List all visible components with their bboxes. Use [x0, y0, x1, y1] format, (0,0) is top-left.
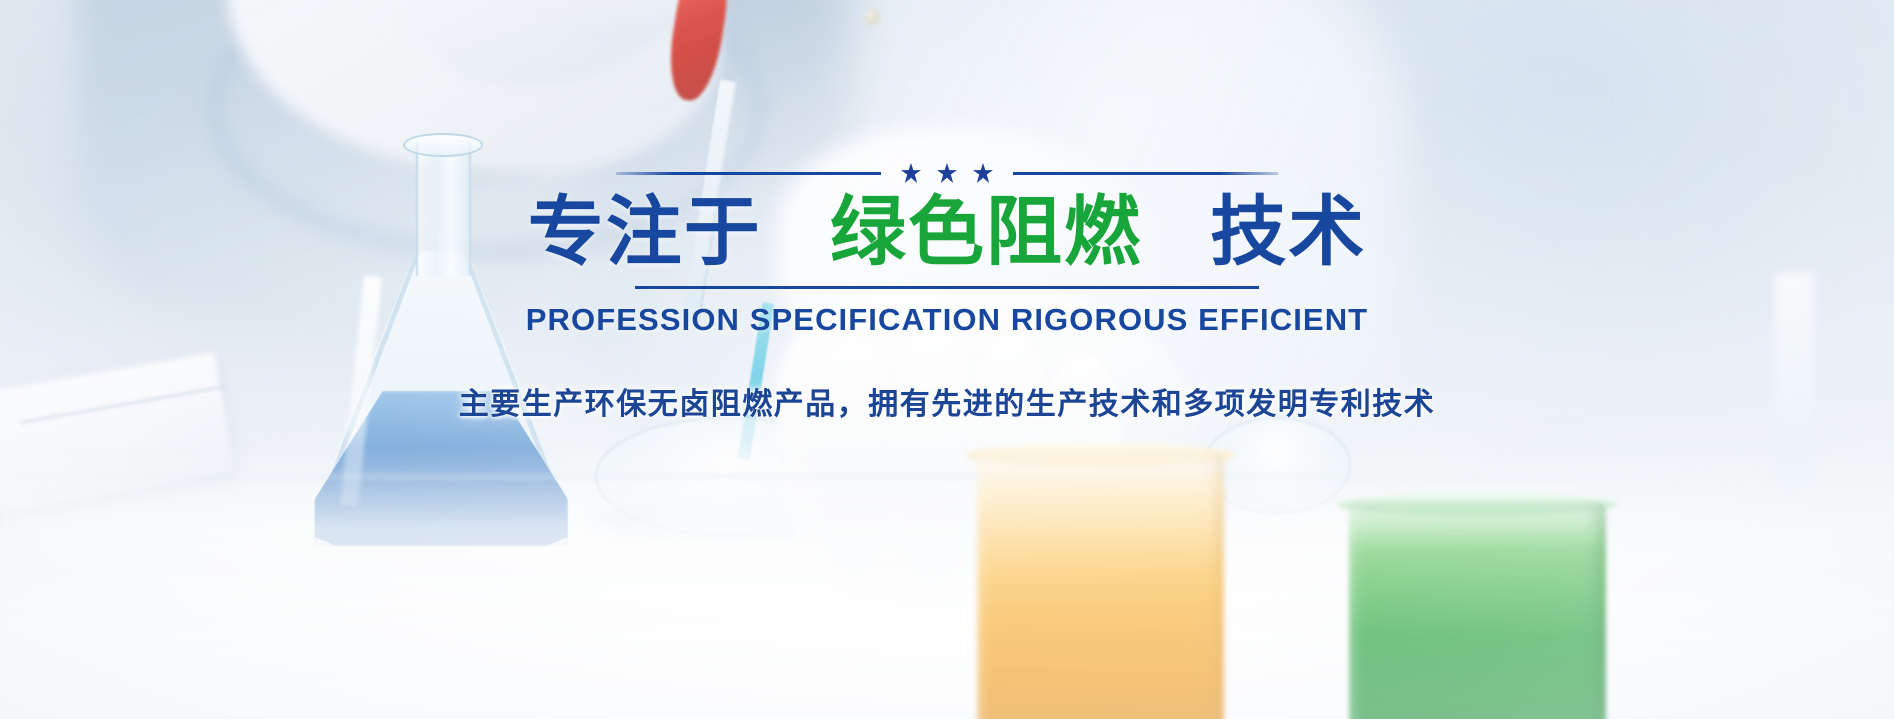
banner-content: 专注于 绿色阻燃 技术 PROFESSION SPECIFICATION RIG… — [0, 160, 1894, 423]
star-icon — [937, 163, 957, 183]
page-title: 专注于 绿色阻燃 技术 — [0, 192, 1894, 274]
headline-part-1: 专注于 — [528, 190, 762, 275]
green-beaker — [1349, 503, 1607, 719]
stars-group — [895, 163, 999, 183]
headline-underline — [635, 286, 1259, 289]
star-icon — [973, 163, 993, 183]
horizontal-rule-right-icon — [1013, 172, 1278, 175]
headline-part-2: 绿色阻燃 — [830, 190, 1142, 275]
headline-part-3: 技术 — [1210, 190, 1366, 275]
star-icon — [901, 163, 921, 183]
flask-lip — [403, 133, 483, 157]
decorative-divider — [0, 160, 1894, 186]
orange-beaker — [977, 453, 1223, 719]
subtitle-english: PROFESSION SPECIFICATION RIGOROUS EFFICI… — [0, 302, 1894, 338]
horizontal-rule-left-icon — [616, 172, 881, 175]
hero-banner: 专注于 绿色阻燃 技术 PROFESSION SPECIFICATION RIG… — [0, 0, 1894, 719]
tagline-chinese: 主要生产环保无卤阻燃产品，拥有先进的生产技术和多项发明专利技术 — [0, 379, 1894, 423]
bench-surface — [0, 446, 1894, 719]
lab-coat-button — [864, 9, 880, 25]
